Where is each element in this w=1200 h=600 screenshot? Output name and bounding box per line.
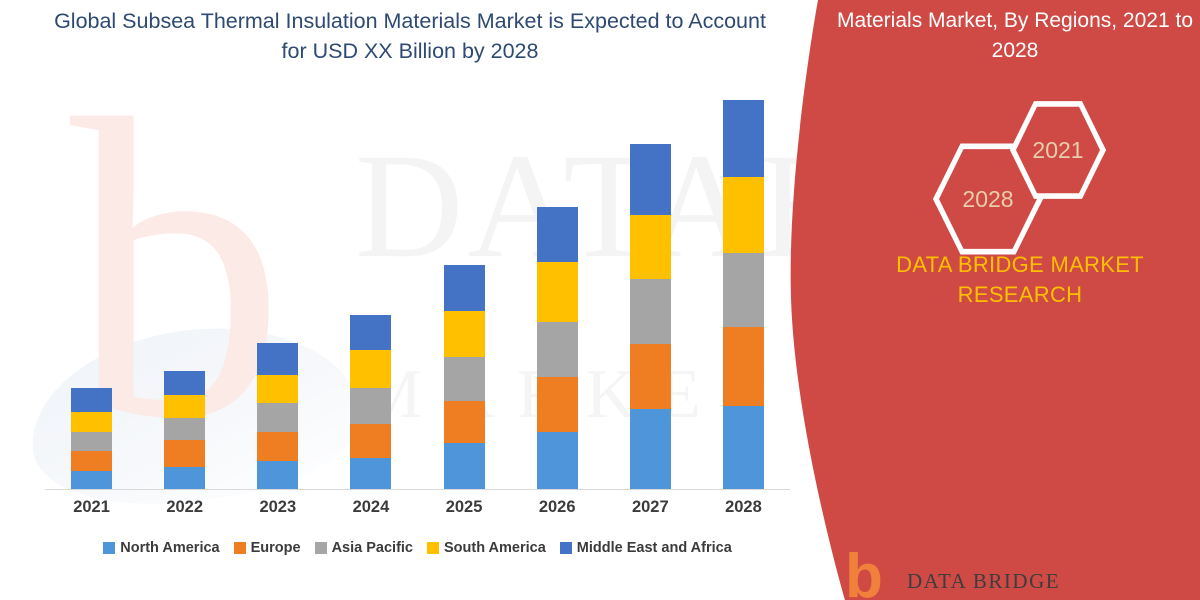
legend-swatch-icon xyxy=(315,542,327,554)
stacked-bar[interactable] xyxy=(164,371,205,490)
legend-item[interactable]: North America xyxy=(103,540,219,556)
bar-segment[interactable] xyxy=(444,357,485,400)
bar-segment[interactable] xyxy=(350,424,391,458)
brand-name: DATA BRIDGE MARKET RESEARCH xyxy=(835,250,1200,310)
bar-segment[interactable] xyxy=(537,207,578,262)
bar-segment[interactable] xyxy=(71,432,112,451)
bar-segment[interactable] xyxy=(723,100,764,177)
brand-line-2: RESEARCH xyxy=(835,280,1200,310)
bar-column xyxy=(52,85,132,490)
chart-title: Global Subsea Thermal Insulation Materia… xyxy=(40,6,780,66)
stacked-bar[interactable] xyxy=(723,100,764,490)
bar-group xyxy=(45,85,790,490)
bar-segment[interactable] xyxy=(164,395,205,417)
bar-segment[interactable] xyxy=(444,401,485,443)
bar-segment[interactable] xyxy=(537,262,578,322)
bar-segment[interactable] xyxy=(257,432,298,461)
logo-mark: b xyxy=(845,552,897,600)
chart-legend: North AmericaEuropeAsia PacificSouth Ame… xyxy=(45,540,790,556)
legend-item[interactable]: South America xyxy=(427,540,546,556)
stacked-bar[interactable] xyxy=(630,144,671,490)
bar-segment[interactable] xyxy=(444,311,485,358)
legend-label: North America xyxy=(120,540,219,556)
x-axis-tick-label: 2026 xyxy=(517,498,597,517)
bar-column xyxy=(145,85,225,490)
x-axis-tick-label: 2028 xyxy=(703,498,783,517)
bar-segment[interactable] xyxy=(444,443,485,490)
bar-segment[interactable] xyxy=(164,418,205,440)
legend-label: Middle East and Africa xyxy=(577,540,732,556)
bar-segment[interactable] xyxy=(723,406,764,490)
bar-segment[interactable] xyxy=(723,327,764,406)
legend-swatch-icon xyxy=(103,542,115,554)
bar-column xyxy=(238,85,318,490)
bar-segment[interactable] xyxy=(723,177,764,253)
bar-segment[interactable] xyxy=(350,388,391,424)
panel-title: Materials Market, By Regions, 2021 to 20… xyxy=(830,6,1200,66)
x-axis-line xyxy=(45,489,790,490)
bar-segment[interactable] xyxy=(257,375,298,403)
bar-segment[interactable] xyxy=(71,412,112,431)
stacked-bar[interactable] xyxy=(350,315,391,490)
stacked-bar[interactable] xyxy=(537,207,578,490)
logo-wordmark: DATA BRIDGE xyxy=(907,569,1060,600)
plot-area xyxy=(45,85,790,490)
bar-column xyxy=(703,85,783,490)
x-axis-labels: 20212022202320242025202620272028 xyxy=(45,498,790,517)
legend-swatch-icon xyxy=(560,542,572,554)
bar-column xyxy=(331,85,411,490)
bar-segment[interactable] xyxy=(164,371,205,396)
brand-line-1: DATA BRIDGE MARKET xyxy=(835,250,1200,280)
bar-segment[interactable] xyxy=(257,403,298,431)
bar-segment[interactable] xyxy=(164,440,205,467)
bar-segment[interactable] xyxy=(537,322,578,377)
bar-segment[interactable] xyxy=(537,377,578,432)
stacked-bar[interactable] xyxy=(444,265,485,490)
bar-column xyxy=(517,85,597,490)
legend-label: Asia Pacific xyxy=(332,540,413,556)
x-axis-tick-label: 2025 xyxy=(424,498,504,517)
bar-segment[interactable] xyxy=(630,409,671,490)
bar-segment[interactable] xyxy=(71,451,112,470)
bar-segment[interactable] xyxy=(350,350,391,388)
bar-segment[interactable] xyxy=(537,432,578,490)
bar-segment[interactable] xyxy=(630,215,671,280)
bar-segment[interactable] xyxy=(444,265,485,311)
bar-segment[interactable] xyxy=(71,388,112,412)
bar-segment[interactable] xyxy=(257,343,298,375)
x-axis-tick-label: 2027 xyxy=(610,498,690,517)
bar-segment[interactable] xyxy=(350,315,391,349)
bar-segment[interactable] xyxy=(257,461,298,490)
legend-item[interactable]: Europe xyxy=(234,540,301,556)
legend-label: Europe xyxy=(251,540,301,556)
bar-segment[interactable] xyxy=(71,471,112,490)
legend-item[interactable]: Middle East and Africa xyxy=(560,540,732,556)
bar-segment[interactable] xyxy=(630,144,671,214)
stacked-bar[interactable] xyxy=(257,343,298,490)
legend-swatch-icon xyxy=(427,542,439,554)
chart-infographic: b DATABRIDGE MARKET RESEARCH Global Subs… xyxy=(0,0,1200,600)
bar-segment[interactable] xyxy=(630,279,671,344)
legend-swatch-icon xyxy=(234,542,246,554)
bar-column xyxy=(610,85,690,490)
legend-label: South America xyxy=(444,540,546,556)
stacked-bar[interactable] xyxy=(71,388,112,490)
panel-content: Materials Market, By Regions, 2021 to 20… xyxy=(845,0,1200,600)
legend-item[interactable]: Asia Pacific xyxy=(315,540,413,556)
x-axis-tick-label: 2022 xyxy=(145,498,225,517)
databridge-logo: b DATA BRIDGE xyxy=(845,552,1060,600)
hexagon-2021-label: 2021 xyxy=(1016,104,1100,196)
x-axis-tick-label: 2023 xyxy=(238,498,318,517)
bar-segment[interactable] xyxy=(630,344,671,409)
bar-segment[interactable] xyxy=(164,467,205,490)
x-axis-tick-label: 2021 xyxy=(52,498,132,517)
x-axis-tick-label: 2024 xyxy=(331,498,411,517)
bar-segment[interactable] xyxy=(723,253,764,327)
bar-segment[interactable] xyxy=(350,458,391,490)
bar-column xyxy=(424,85,504,490)
